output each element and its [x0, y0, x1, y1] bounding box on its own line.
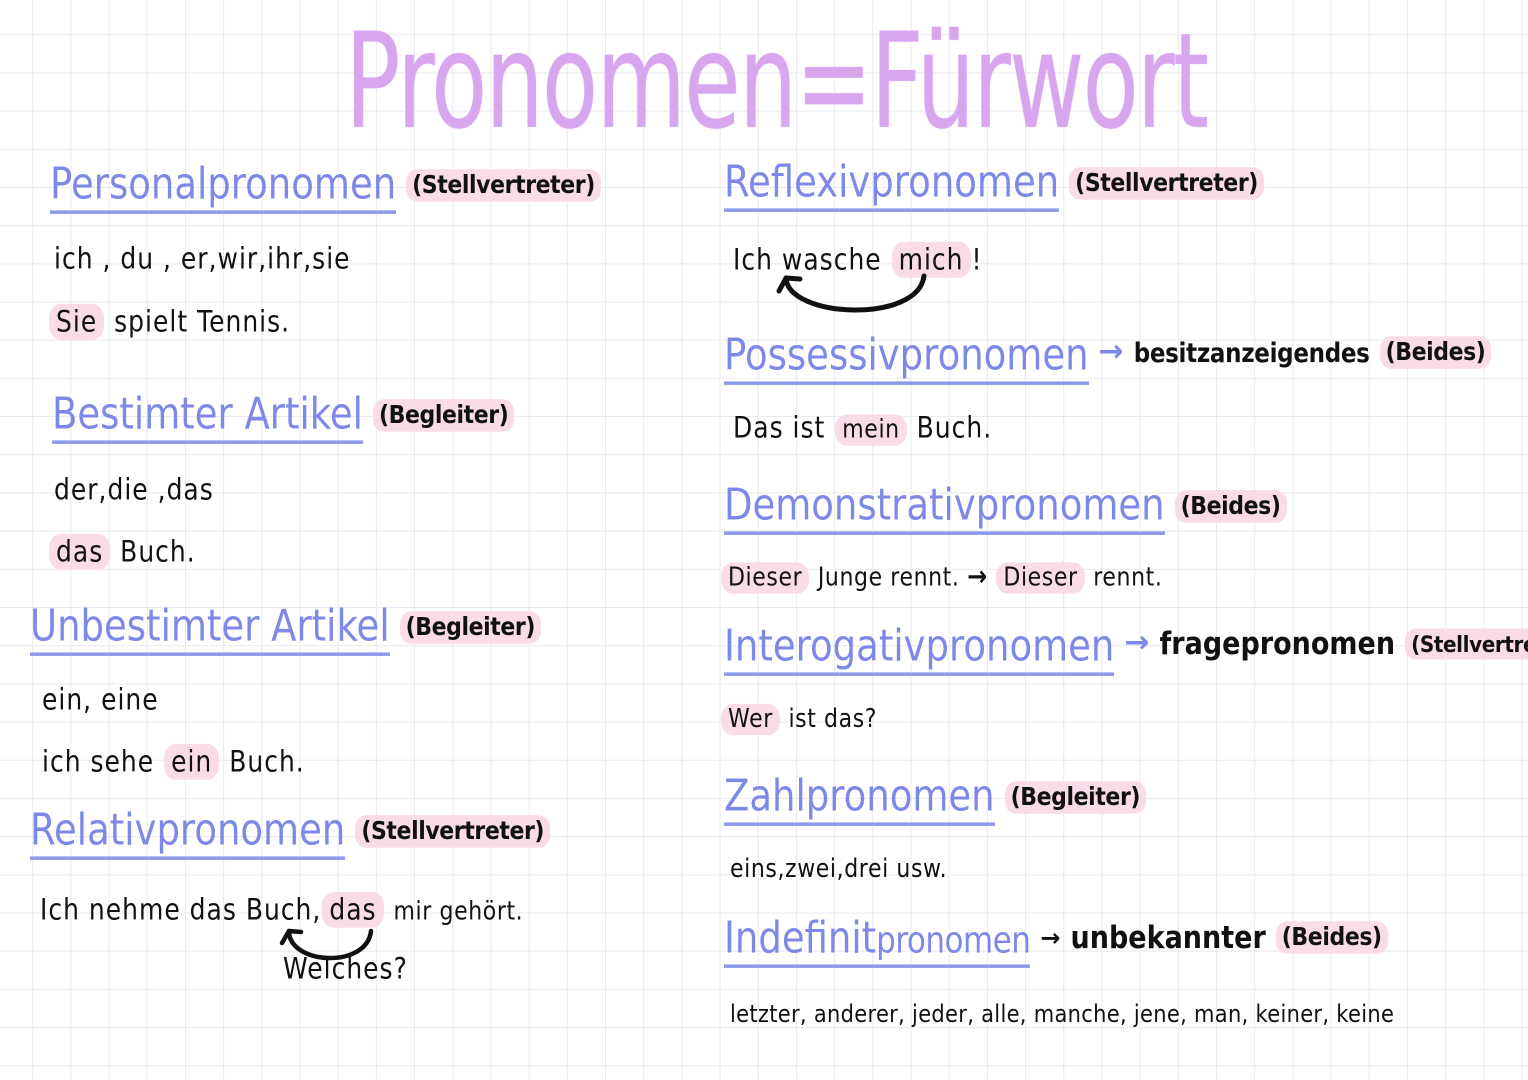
heading-indefinit-main: Indef: [724, 912, 828, 963]
sentence-bestimter-artikel-rest: Buch.: [120, 535, 196, 569]
heading-indefinit-rest: init: [828, 912, 876, 963]
heading-indefinit-small: pronomen: [876, 920, 1030, 962]
possessiv-arrow-icon: →: [1099, 334, 1124, 369]
highlight-sie: Sie: [49, 304, 104, 340]
annotation-interogativpronomen: fragepronomen: [1160, 627, 1396, 662]
page-title: Pronomen=Fürwort: [345, 16, 1207, 148]
demonstrativ-arrow-icon: →: [967, 560, 988, 592]
section-possessivpronomen-header: Possessivpronomen → besitzanzeigendes (B…: [724, 333, 1491, 377]
tag-indefinitpronomen: (Beides): [1276, 921, 1388, 953]
heading-possessivpronomen: Possessivpronomen: [724, 333, 1089, 385]
sentence-bestimter-artikel: das Buch.: [48, 535, 196, 569]
heading-zahlpronomen: Zahlpronomen: [724, 774, 995, 826]
tag-unbestimter-artikel: (Begleiter): [400, 611, 541, 643]
sentence-personalpronomen: Sie spielt Tennis.: [48, 305, 290, 339]
sentence-interogativpronomen-rest: ist das?: [788, 705, 877, 734]
sentence-possessivpronomen-rest: Buch.: [917, 411, 993, 445]
section-demonstrativpronomen-header: Demonstrativpronomen (Beides): [724, 483, 1287, 527]
sentence-demonstrativ-mid: Junge rennt.: [818, 563, 960, 592]
heading-interogativpronomen: Interogativpronomen: [724, 624, 1114, 676]
highlight-dieser-2: Dieser: [996, 562, 1084, 593]
section-interogativpronomen-header: Interogativpronomen → fragepronomen (Ste…: [724, 624, 1528, 668]
sentence-demonstrativpronomen: Dieser Junge rennt. → Dieser rennt.: [720, 560, 1162, 592]
highlight-das: das: [49, 534, 110, 570]
tag-interogativpronomen: (Stellvertreter): [1405, 628, 1528, 659]
examples-indefinitpronomen: letzter, anderer, jeder, alle, manche, j…: [730, 1000, 1394, 1028]
section-indefinitpronomen-header: Indefinitpronomen → unbekannter (Beides): [724, 916, 1388, 960]
tag-relativpronomen: (Stellvertreter): [355, 815, 550, 847]
sentence-personalpronomen-rest: spielt Tennis.: [114, 305, 290, 339]
sentence-unbestimter-artikel: ich sehe ein Buch.: [42, 745, 305, 779]
sentence-possessivpronomen: Das ist mein Buch.: [733, 411, 992, 445]
heading-unbestimter-artikel: Unbestimter Artikel: [30, 604, 390, 656]
notes-sheet: Pronomen=Fürwort Personalpronomen (Stell…: [0, 0, 1528, 1080]
examples-zahlpronomen: eins,zwei,drei usw.: [730, 855, 947, 884]
sentence-demonstrativ-end: rennt.: [1093, 563, 1162, 592]
heading-indefinitpronomen: Indefinitpronomen: [724, 916, 1030, 968]
highlight-mein: mein: [835, 414, 906, 445]
sentence-relativpronomen: Ich nehme das Buch,das mir gehört.: [40, 893, 523, 927]
section-personalpronomen-header: Personalpronomen (Stellvertreter): [50, 162, 601, 206]
section-reflexivpronomen-header: Reflexivpronomen (Stellvertreter): [724, 160, 1264, 204]
heading-personalpronomen: Personalpronomen: [50, 162, 396, 214]
tag-bestimter-artikel: (Begleiter): [373, 399, 514, 431]
examples-personalpronomen: ich , du , er,wir,ihr,sie: [54, 242, 351, 276]
annotation-possessivpronomen: besitzanzeigendes: [1134, 339, 1370, 369]
tag-personalpronomen: (Stellvertreter): [406, 169, 601, 201]
tag-possessivpronomen: (Beides): [1380, 336, 1492, 368]
section-bestimter-artikel-header: Bestimter Artikel (Begleiter): [52, 392, 514, 436]
tag-zahlpronomen: (Begleiter): [1005, 781, 1146, 813]
highlight-das-relativ: das: [322, 892, 383, 928]
sentence-relativpronomen-pre: Ich nehme das Buch,: [40, 893, 321, 927]
highlight-wer: Wer: [721, 704, 780, 735]
heading-demonstrativpronomen: Demonstrativpronomen: [724, 483, 1165, 535]
sentence-unbestimter-artikel-rest: Buch.: [229, 745, 305, 779]
section-unbestimter-artikel-header: Unbestimter Artikel (Begleiter): [30, 604, 541, 648]
heading-relativpronomen: Relativpronomen: [30, 808, 345, 860]
indefinit-arrow-icon: →: [1040, 924, 1060, 952]
examples-unbestimter-artikel: ein, eine: [42, 683, 159, 717]
sentence-reflexivpronomen-end: !: [972, 243, 983, 277]
sentence-possessivpronomen-pre: Das ist: [733, 411, 825, 445]
heading-bestimter-artikel: Bestimter Artikel: [52, 392, 363, 444]
sentence-relativpronomen-rest: mir gehört.: [394, 898, 524, 927]
examples-bestimter-artikel: der,die ,das: [54, 473, 214, 507]
section-relativpronomen-header: Relativpronomen (Stellvertreter): [30, 808, 550, 852]
heading-reflexivpronomen: Reflexivpronomen: [724, 160, 1059, 212]
sentence-interogativpronomen: Wer ist das?: [720, 705, 877, 734]
sentence-unbestimter-artikel-pre: ich sehe: [42, 745, 154, 779]
annotation-indefinitpronomen: unbekannter: [1071, 921, 1266, 956]
highlight-dieser-1: Dieser: [721, 562, 809, 593]
tag-reflexivpronomen: (Stellvertreter): [1069, 167, 1264, 199]
section-zahlpronomen-header: Zahlpronomen (Begleiter): [724, 774, 1146, 818]
tag-demonstrativpronomen: (Beides): [1175, 490, 1287, 522]
reflexiv-reference-arrow-icon: [772, 272, 952, 327]
callout-welches: Welches?: [283, 952, 408, 986]
interogativ-arrow-icon: →: [1124, 625, 1149, 660]
highlight-ein: ein: [164, 744, 219, 780]
